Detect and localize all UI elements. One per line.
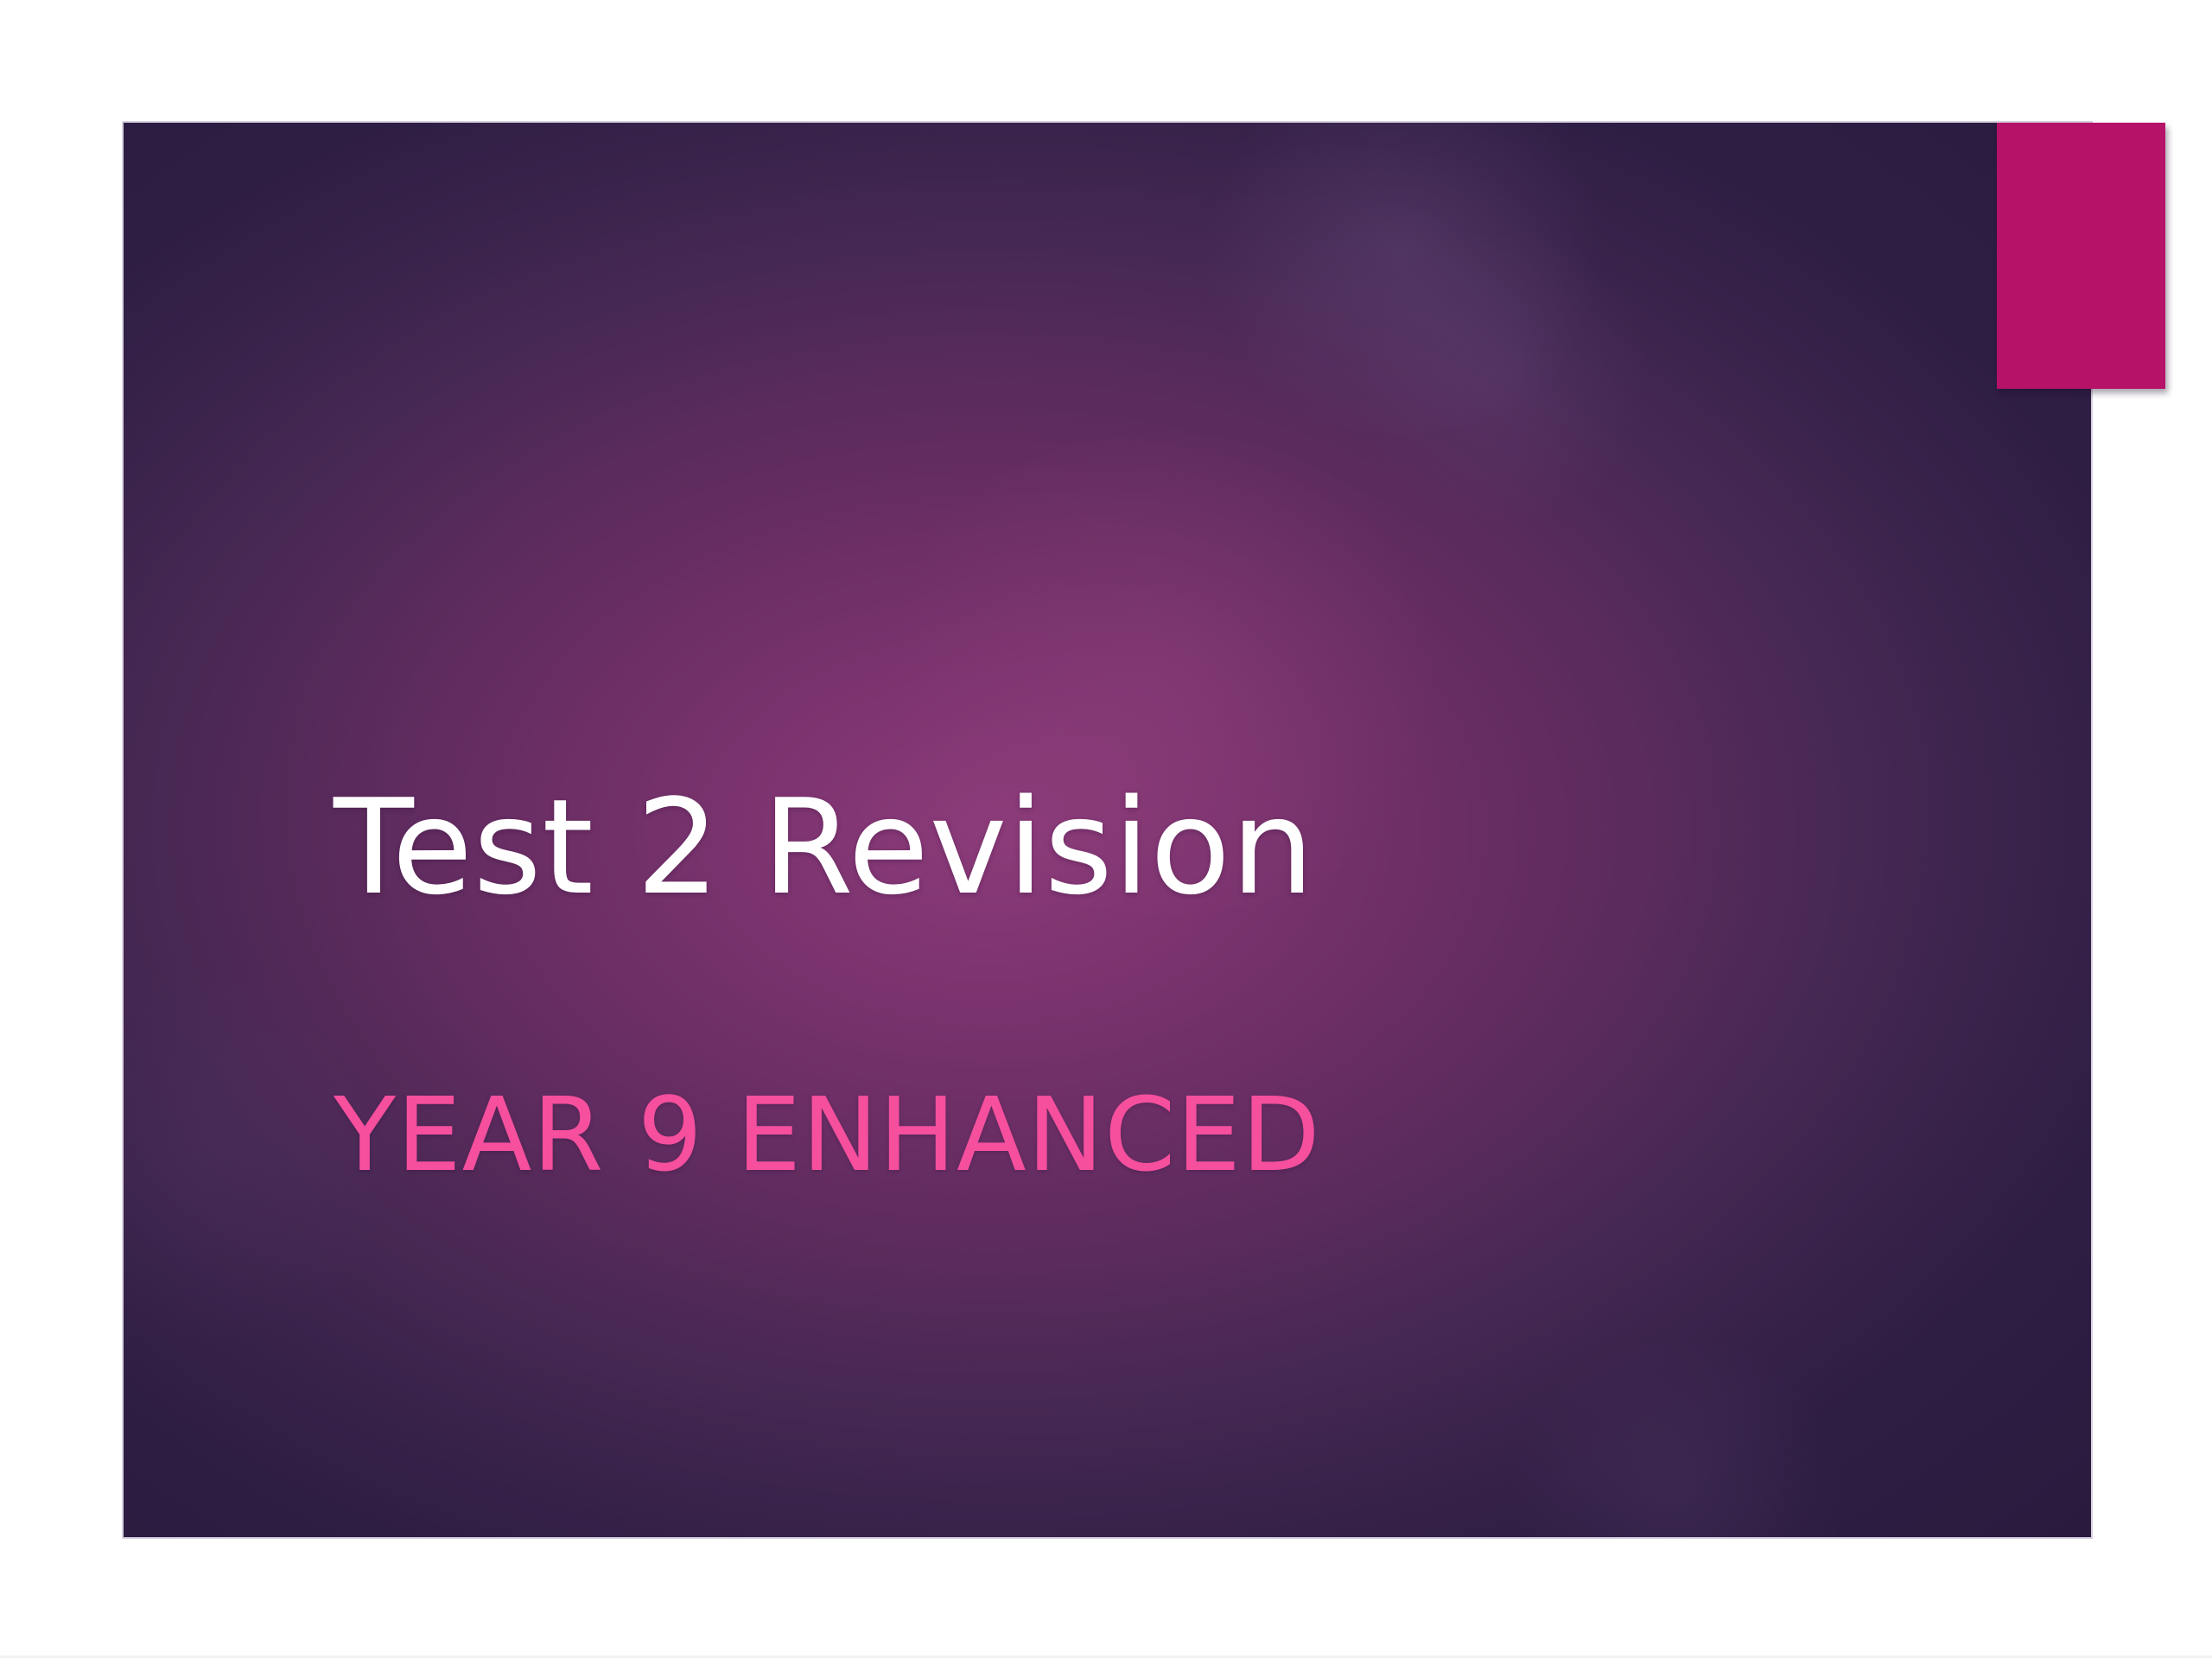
slide-title[interactable]: Test 2 Revision	[334, 779, 1802, 916]
slide-subtitle[interactable]: YEAR 9 ENHANCED	[334, 1082, 1802, 1189]
page-canvas: Test 2 Revision YEAR 9 ENHANCED	[0, 0, 2212, 1659]
page-bottom-divider	[0, 1656, 2212, 1658]
accent-tab	[1997, 123, 2165, 389]
slide-text-block: Test 2 Revision YEAR 9 ENHANCED	[334, 779, 1802, 1189]
slide-title-slide[interactable]: Test 2 Revision YEAR 9 ENHANCED	[124, 123, 2091, 1537]
